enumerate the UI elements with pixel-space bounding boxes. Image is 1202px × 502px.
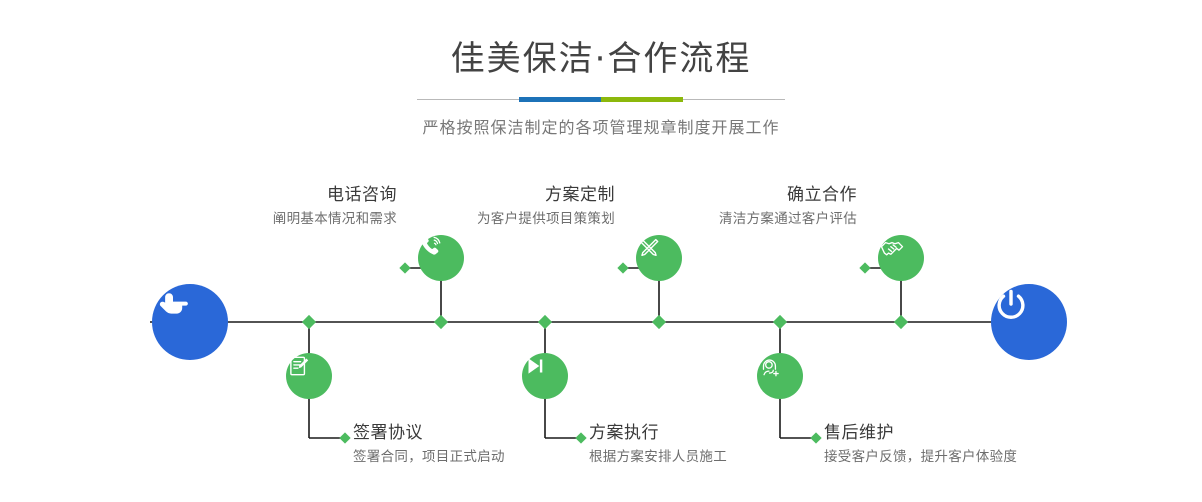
step-label-1: 电话咨询 阐明基本情况和需求	[273, 184, 397, 229]
step-node-5[interactable]	[878, 235, 924, 281]
step-title-1: 电话咨询	[273, 184, 397, 207]
step-node-4[interactable]	[522, 353, 568, 399]
step-desc-4: 根据方案安排人员施工	[589, 447, 727, 467]
divider-green-segment	[601, 97, 683, 102]
flow-end-node[interactable]	[991, 284, 1067, 360]
step-desc-1: 阐明基本情况和需求	[273, 209, 397, 229]
step-node-2[interactable]	[286, 353, 332, 399]
spine-diamond-6	[894, 315, 908, 329]
handshake-icon	[878, 235, 906, 263]
flow-start-node[interactable]	[152, 284, 228, 360]
label-diamond-step-5	[859, 262, 870, 273]
step-title-5: 确立合作	[719, 184, 857, 207]
pen-pencil-icon	[636, 235, 662, 261]
spine-diamond-2	[434, 315, 448, 329]
step-node-1[interactable]	[418, 235, 464, 281]
step-title-4: 方案执行	[589, 422, 727, 445]
label-diamond-step-2	[339, 432, 350, 443]
step-title-2: 签署协议	[353, 422, 505, 445]
step-title-3: 方案定制	[477, 184, 615, 207]
step-node-6[interactable]	[757, 353, 803, 399]
page-header: 佳美保洁·合作流程 严格按照保洁制定的各项管理规章制度开展工作	[0, 0, 1202, 138]
process-flow-diagram: 电话咨询 阐明基本情况和需求 签署协议 签署合同，项目正式启动 方案定制 为客户…	[0, 150, 1202, 502]
headset-add-icon	[757, 353, 783, 379]
spine-diamond-4	[652, 315, 666, 329]
label-diamond-step-3	[617, 262, 628, 273]
spine-diamond-5	[773, 315, 787, 329]
label-diamond-step-6	[810, 432, 821, 443]
step-label-3: 方案定制 为客户提供项目策策划	[477, 184, 615, 229]
step-desc-6: 接受客户反馈，提升客户体验度	[824, 447, 1017, 467]
step-desc-2: 签署合同，项目正式启动	[353, 447, 505, 467]
phone-ringing-icon	[418, 235, 444, 261]
step-title-6: 售后维护	[824, 422, 1017, 445]
divider-blue-segment	[519, 97, 601, 102]
step-desc-5: 清洁方案通过客户评估	[719, 209, 857, 229]
page-title: 佳美保洁·合作流程	[0, 0, 1202, 81]
spine-diamond-1	[302, 315, 316, 329]
step-label-2: 签署协议 签署合同，项目正式启动	[353, 422, 505, 467]
step-desc-3: 为客户提供项目策策划	[477, 209, 615, 229]
step-label-5: 确立合作 清洁方案通过客户评估	[719, 184, 857, 229]
pointing-hand-icon	[152, 284, 194, 326]
step-label-4: 方案执行 根据方案安排人员施工	[589, 422, 727, 467]
play-next-icon	[522, 353, 548, 379]
page-subtitle: 严格按照保洁制定的各项管理规章制度开展工作	[0, 102, 1202, 138]
spine-diamond-3	[538, 315, 552, 329]
step-node-3[interactable]	[636, 235, 682, 281]
title-divider	[417, 97, 785, 102]
label-diamond-step-1	[399, 262, 410, 273]
power-icon	[991, 284, 1031, 324]
document-edit-icon	[286, 353, 312, 379]
label-diamond-step-4	[575, 432, 586, 443]
step-label-6: 售后维护 接受客户反馈，提升客户体验度	[824, 422, 1017, 467]
